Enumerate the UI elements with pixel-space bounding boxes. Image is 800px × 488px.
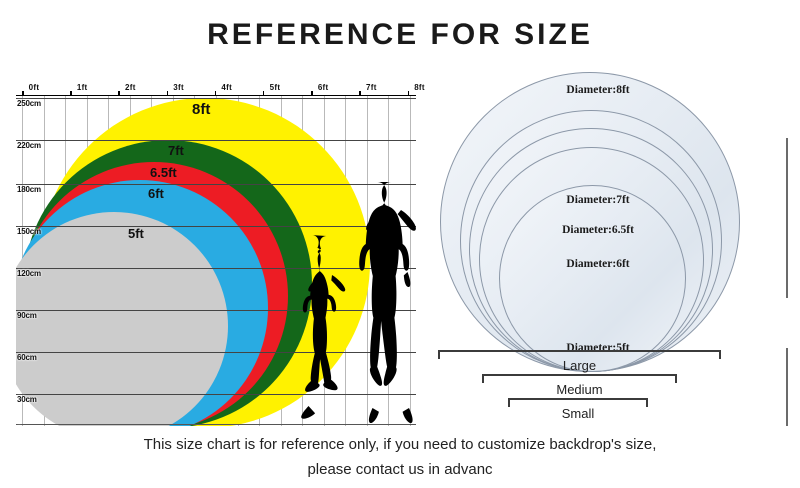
grid-line-horizontal (16, 226, 416, 227)
edge-tick-top (786, 138, 788, 298)
ruler-label-2ft: 2ft (125, 83, 136, 92)
size-reference-chart: REFERENCE FOR SIZE 0ft1ft2ft3ft4ft5ft6ft… (0, 0, 800, 488)
right-disc-panel: Diameter:8ftDiameter:7ftDiameter:6.5ftDi… (430, 62, 800, 432)
child-silhouette (300, 234, 354, 426)
page-title: REFERENCE FOR SIZE (0, 18, 800, 52)
y-axis-label-180cm: 180cm (17, 185, 41, 194)
footer-line-2: please contact us in advanc (0, 457, 800, 482)
ruler-label-7ft: 7ft (366, 83, 377, 92)
ring-label-6.5ft: 6.5ft (150, 165, 177, 180)
edge-tick-bottom (786, 348, 788, 426)
y-axis-label-30cm: 30cm (17, 395, 37, 404)
ruler-label-1ft: 1ft (77, 83, 88, 92)
left-scale-chart: 0ft1ft2ft3ft4ft5ft6ft7ft8ft 8ft 7ft 6.5f… (0, 70, 430, 430)
disc-label-6ft: Diameter:6ft (566, 258, 629, 270)
bracket-label: Large (438, 358, 721, 373)
size-bracket-large: Large (438, 350, 721, 372)
grid-line-horizontal (16, 424, 416, 425)
footer-disclaimer: This size chart is for reference only, i… (0, 432, 800, 482)
size-bracket-medium: Medium (482, 374, 677, 396)
grid-line-horizontal (16, 394, 416, 395)
y-axis-label-0cm: 0cm (17, 425, 32, 426)
bracket-bar (508, 398, 648, 400)
footer-line-1: This size chart is for reference only, i… (0, 432, 800, 457)
disc-label-7ft: Diameter:7ft (566, 194, 629, 206)
grid-line-horizontal (16, 268, 416, 269)
y-axis-label-150cm: 150cm (17, 227, 41, 236)
ring-label-7ft: 7ft (168, 143, 184, 158)
ring-label-5ft: 5ft (128, 226, 144, 241)
bracket-label: Medium (482, 382, 677, 397)
bracket-bar (482, 374, 677, 376)
ruler-label-4ft: 4ft (221, 83, 232, 92)
horizontal-ruler: 0ft1ft2ft3ft4ft5ft6ft7ft8ft (16, 78, 416, 96)
y-axis-label-220cm: 220cm (17, 141, 41, 150)
ruler-label-6ft: 6ft (318, 83, 329, 92)
grid-line-horizontal (16, 98, 416, 99)
ruler-label-5ft: 5ft (270, 83, 281, 92)
grid-line-horizontal (16, 140, 416, 141)
plot-area: 8ft 7ft 6.5ft 6ft 5ft 250cm220cm180 (16, 96, 416, 426)
y-axis-label-250cm: 250cm (17, 99, 41, 108)
ring-label-6ft: 6ft (148, 186, 164, 201)
grid-line-horizontal (16, 352, 416, 353)
disc-label-8ft: Diameter:8ft (566, 84, 629, 96)
y-axis-label-90cm: 90cm (17, 311, 37, 320)
size-bracket-small: Small (508, 398, 648, 420)
grid-line-horizontal (16, 184, 416, 185)
ruler-label-8ft: 8ft (414, 83, 425, 92)
ring-label-8ft: 8ft (192, 101, 210, 118)
bracket-bar (438, 350, 721, 352)
grid-line-horizontal (16, 310, 416, 311)
bracket-label: Small (508, 406, 648, 421)
woman-silhouette (358, 180, 416, 426)
y-axis-label-120cm: 120cm (17, 269, 41, 278)
ruler-label-3ft: 3ft (173, 83, 184, 92)
y-axis-label-60cm: 60cm (17, 353, 37, 362)
disc-label-6.5ft: Diameter:6.5ft (562, 224, 634, 236)
ruler-label-0ft: 0ft (29, 83, 40, 92)
